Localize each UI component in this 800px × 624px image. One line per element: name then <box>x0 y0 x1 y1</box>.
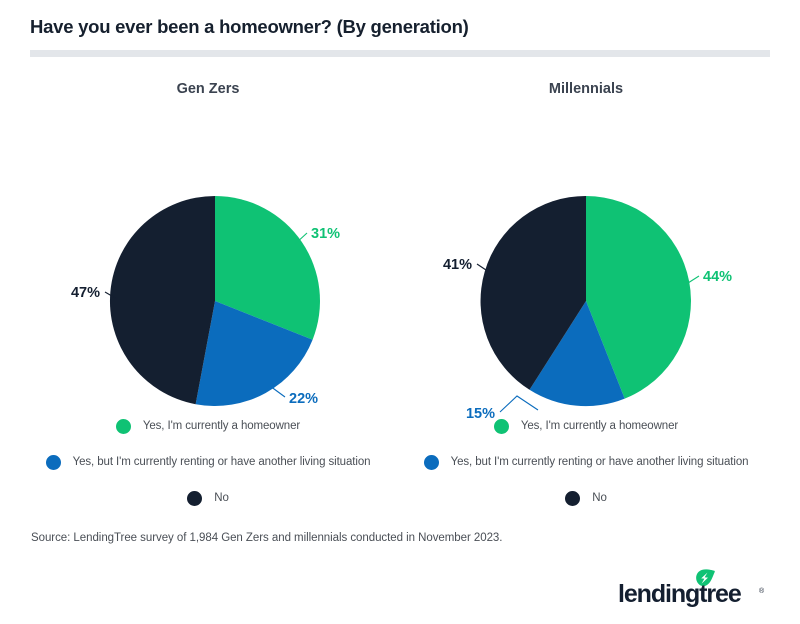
charts-container: Gen Zers 31% 22% 47% <box>0 72 800 512</box>
pie-chart-gen-zers: 31% 22% 47% <box>8 120 408 420</box>
legend-millennials: Yes, I'm currently a homeowner Yes, but … <box>386 408 786 516</box>
legend-item-no[interactable]: No <box>386 480 786 516</box>
pie-value-label-navy-gen-zers: 47% <box>71 285 100 301</box>
leader-line-green-millennials <box>688 276 699 283</box>
legend-item-homeowner[interactable]: Yes, I'm currently a homeowner <box>8 408 408 444</box>
circle-icon <box>116 419 131 434</box>
pie-value-label-green-gen-zers: 31% <box>311 226 340 242</box>
legend-label: Yes, I'm currently a homeowner <box>143 420 300 432</box>
legend-item-no[interactable]: No <box>8 480 408 516</box>
legend-item-renting[interactable]: Yes, but I'm currently renting or have a… <box>386 444 786 480</box>
logo-wordmark: lendingtree <box>618 580 742 608</box>
legend-item-renting[interactable]: Yes, but I'm currently renting or have a… <box>8 444 408 480</box>
legend-label: Yes, but I'm currently renting or have a… <box>73 456 371 468</box>
pie-svg-millennials: 44% 15% 41% <box>386 120 786 420</box>
pie-svg-gen-zers: 31% 22% 47% <box>8 120 408 420</box>
circle-icon <box>187 491 202 506</box>
legend-item-homeowner[interactable]: Yes, I'm currently a homeowner <box>386 408 786 444</box>
legend-gen-zers: Yes, I'm currently a homeowner Yes, but … <box>8 408 408 516</box>
lendingtree-logo[interactable]: lendingtree ® <box>618 575 778 609</box>
legend-label: Yes, but I'm currently renting or have a… <box>451 456 749 468</box>
chart-panel-gen-zers: Gen Zers 31% 22% 47% <box>8 72 408 512</box>
chart-title-millennials: Millennials <box>386 81 786 97</box>
source-note: Source: LendingTree survey of 1,984 Gen … <box>31 532 502 544</box>
legend-label: Yes, I'm currently a homeowner <box>521 420 678 432</box>
legend-label: No <box>214 492 229 504</box>
circle-icon <box>565 491 580 506</box>
chart-panel-millennials: Millennials 44% 15% <box>386 72 786 512</box>
circle-icon <box>494 419 509 434</box>
legend-label: No <box>592 492 607 504</box>
chart-title-gen-zers: Gen Zers <box>8 81 408 97</box>
circle-icon <box>46 455 61 470</box>
header-divider <box>30 50 770 57</box>
header: Have you ever been a homeowner? (By gene… <box>30 16 790 38</box>
pie-slice-navy-gen-zers[interactable] <box>110 196 215 404</box>
pie-value-label-blue-gen-zers: 22% <box>289 391 318 407</box>
logo-svg: lendingtree ® <box>618 569 778 609</box>
pie-value-label-navy-millennials: 41% <box>443 257 472 273</box>
pie-chart-millennials: 44% 15% 41% <box>386 120 786 420</box>
page-title: Have you ever been a homeowner? (By gene… <box>30 16 790 38</box>
pie-value-label-green-millennials: 44% <box>703 269 732 285</box>
infographic-root: Have you ever been a homeowner? (By gene… <box>0 0 800 624</box>
logo-trademark: ® <box>759 587 765 595</box>
circle-icon <box>424 455 439 470</box>
